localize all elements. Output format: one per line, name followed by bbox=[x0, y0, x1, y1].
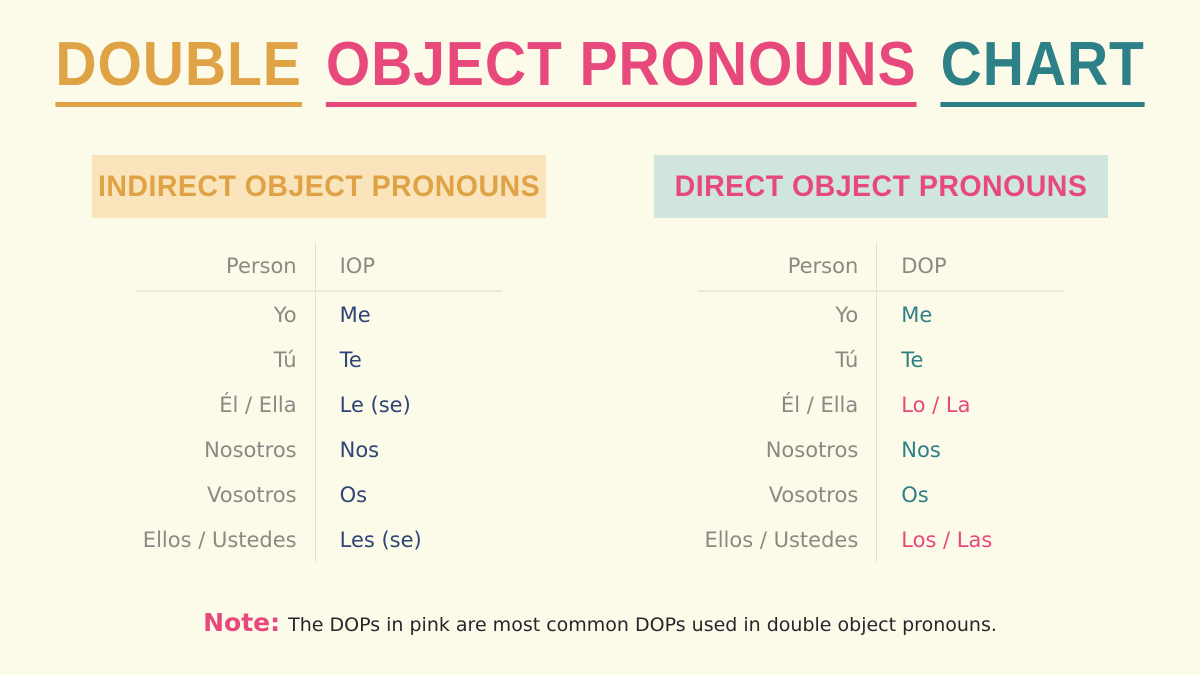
cell-dop: Te bbox=[877, 337, 1064, 382]
cell-person: Yo bbox=[698, 291, 877, 337]
column-header-iop: IOP bbox=[315, 242, 502, 291]
cell-person: Vosotros bbox=[136, 472, 315, 517]
table-row: Yo Me bbox=[136, 291, 502, 337]
cell-person: Nosotros bbox=[698, 427, 877, 472]
cell-dop: Los / Las bbox=[877, 517, 1064, 562]
title-text: DOUBLE OBJECT PRONOUNS CHART bbox=[52, 32, 1149, 107]
table-head: Person IOP bbox=[136, 242, 502, 291]
panel-header-direct: DIRECT OBJECT PRONOUNS bbox=[654, 155, 1108, 218]
cell-person: Él / Ella bbox=[136, 382, 315, 427]
cell-person: Yo bbox=[136, 291, 315, 337]
title-word-chart: CHART bbox=[941, 32, 1145, 107]
cell-iop: Le (se) bbox=[315, 382, 502, 427]
cell-dop: Me bbox=[877, 291, 1064, 337]
cell-person: Ellos / Ustedes bbox=[136, 517, 315, 562]
table-row: Vosotros Os bbox=[698, 472, 1064, 517]
cell-dop: Nos bbox=[877, 427, 1064, 472]
column-header-person: Person bbox=[698, 242, 877, 291]
panel-indirect-object-pronouns: INDIRECT OBJECT PRONOUNS Person IOP Yo M… bbox=[80, 155, 558, 562]
cell-iop: Me bbox=[315, 291, 502, 337]
table-row: Nosotros Nos bbox=[136, 427, 502, 472]
cell-dop: Lo / La bbox=[877, 382, 1064, 427]
table-header-row: Person DOP bbox=[698, 242, 1064, 291]
table-head: Person DOP bbox=[698, 242, 1064, 291]
cell-iop: Os bbox=[315, 472, 502, 517]
panel-header-indirect: INDIRECT OBJECT PRONOUNS bbox=[92, 155, 546, 218]
pronoun-panels: INDIRECT OBJECT PRONOUNS Person IOP Yo M… bbox=[0, 155, 1200, 562]
page-title: DOUBLE OBJECT PRONOUNS CHART bbox=[0, 0, 1200, 107]
table-row: Vosotros Os bbox=[136, 472, 502, 517]
cell-iop: Nos bbox=[315, 427, 502, 472]
footer-note: Note:The DOPs in pink are most common DO… bbox=[0, 608, 1200, 637]
panel-direct-object-pronouns: DIRECT OBJECT PRONOUNS Person DOP Yo Me … bbox=[642, 155, 1120, 562]
cell-dop: Os bbox=[877, 472, 1064, 517]
column-header-dop: DOP bbox=[877, 242, 1064, 291]
note-label: Note: bbox=[203, 608, 280, 637]
table-body: Yo Me Tú Te Él / Ella Le (se) Nosotros N… bbox=[136, 291, 502, 562]
cell-iop: Les (se) bbox=[315, 517, 502, 562]
cell-person: Vosotros bbox=[698, 472, 877, 517]
table-row: Él / Ella Le (se) bbox=[136, 382, 502, 427]
table-row: Él / Ella Lo / La bbox=[698, 382, 1064, 427]
table-body: Yo Me Tú Te Él / Ella Lo / La Nosotros N… bbox=[698, 291, 1064, 562]
cell-person: Ellos / Ustedes bbox=[698, 517, 877, 562]
table-indirect-object-pronouns: Person IOP Yo Me Tú Te Él / Ella Le (se) bbox=[136, 242, 502, 562]
cell-person: Tú bbox=[136, 337, 315, 382]
table-row: Yo Me bbox=[698, 291, 1064, 337]
title-word-object-pronouns: OBJECT PRONOUNS bbox=[326, 32, 917, 107]
cell-iop: Te bbox=[315, 337, 502, 382]
table-direct-object-pronouns: Person DOP Yo Me Tú Te Él / Ella Lo / La bbox=[698, 242, 1064, 562]
note-text: The DOPs in pink are most common DOPs us… bbox=[288, 614, 997, 636]
table-header-row: Person IOP bbox=[136, 242, 502, 291]
column-header-person: Person bbox=[136, 242, 315, 291]
table-row: Tú Te bbox=[136, 337, 502, 382]
table-row: Tú Te bbox=[698, 337, 1064, 382]
cell-person: Nosotros bbox=[136, 427, 315, 472]
table-row: Ellos / Ustedes Los / Las bbox=[698, 517, 1064, 562]
table-row: Ellos / Ustedes Les (se) bbox=[136, 517, 502, 562]
title-word-double: DOUBLE bbox=[55, 32, 301, 107]
cell-person: Tú bbox=[698, 337, 877, 382]
table-row: Nosotros Nos bbox=[698, 427, 1064, 472]
cell-person: Él / Ella bbox=[698, 382, 877, 427]
